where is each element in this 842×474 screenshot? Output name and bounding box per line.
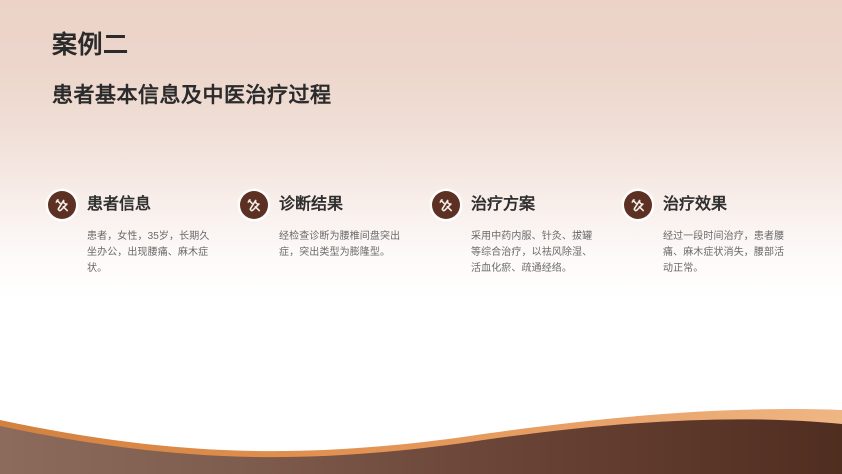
tools-icon: [624, 191, 652, 219]
info-card-header: 患者信息: [48, 190, 212, 220]
info-card: 患者信息 患者，女性，35岁，长期久坐办公，出现腰痛、麻木症状。: [48, 190, 240, 277]
slide-canvas: 案例二 患者基本信息及中医治疗过程 患者信息 患者，女性，35岁，长期久坐办公，…: [0, 0, 842, 474]
info-card-body: 经过一段时间治疗，患者腰痛、麻木症状消失，腰部活动正常。: [663, 229, 788, 277]
info-card-title: 患者信息: [87, 197, 151, 213]
info-card-title: 治疗方案: [471, 197, 535, 213]
wave-orange-layer: [0, 409, 842, 474]
tools-icon: [48, 191, 76, 219]
page-title: 案例二: [52, 32, 332, 60]
info-card-header: 治疗方案: [432, 190, 596, 220]
bottom-wave-decoration: [0, 394, 842, 474]
info-card-title: 治疗效果: [663, 197, 727, 213]
page-subtitle: 患者基本信息及中医治疗过程: [52, 84, 332, 108]
info-card: 诊断结果 经检查诊断为腰椎间盘突出症，突出类型为膨隆型。: [240, 190, 432, 261]
info-card: 治疗方案 采用中药内服、针灸、拔罐等综合治疗，以祛风除湿、活血化瘀、疏通经络。: [432, 190, 624, 277]
info-card-row: 患者信息 患者，女性，35岁，长期久坐办公，出现腰痛、麻木症状。 诊断结果 经检…: [48, 190, 828, 277]
info-card-header: 诊断结果: [240, 190, 404, 220]
info-card-title: 诊断结果: [279, 197, 343, 213]
tools-icon: [432, 191, 460, 219]
info-card-body: 采用中药内服、针灸、拔罐等综合治疗，以祛风除湿、活血化瘀、疏通经络。: [471, 229, 596, 277]
wave-brown-layer: [0, 419, 842, 474]
slide-headings: 案例二 患者基本信息及中医治疗过程: [52, 32, 332, 108]
info-card-header: 治疗效果: [624, 190, 788, 220]
info-card-body: 经检查诊断为腰椎间盘突出症，突出类型为膨隆型。: [279, 229, 404, 261]
info-card: 治疗效果 经过一段时间治疗，患者腰痛、麻木症状消失，腰部活动正常。: [624, 190, 816, 277]
tools-icon: [240, 191, 268, 219]
info-card-body: 患者，女性，35岁，长期久坐办公，出现腰痛、麻木症状。: [87, 229, 212, 277]
